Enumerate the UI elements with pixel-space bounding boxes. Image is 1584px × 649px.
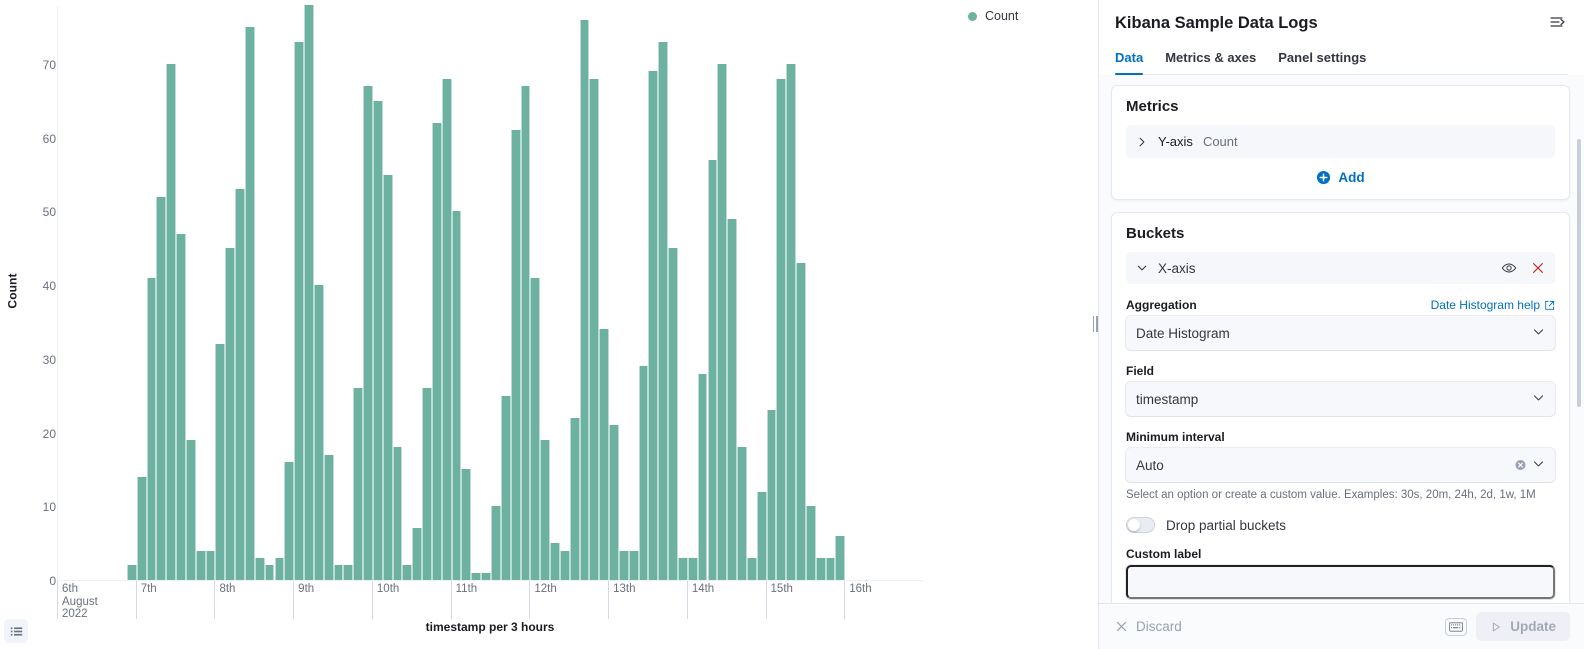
close-icon	[1531, 261, 1545, 275]
x-axis-tick-label: 8th	[219, 581, 235, 596]
panel-body: Metrics Y-axis Count Add	[1099, 75, 1584, 603]
bar[interactable]	[363, 86, 373, 580]
bar[interactable]	[619, 551, 629, 580]
x-axis-title: timestamp per 3 hours	[57, 620, 923, 634]
bar[interactable]	[304, 5, 314, 580]
aggregation-select[interactable]: Date Histogram	[1126, 316, 1555, 350]
bar[interactable]	[658, 42, 668, 580]
panel-scrollbar[interactable]	[1577, 139, 1581, 407]
app-root: Count Count 010203040506070 6thAugust202…	[0, 0, 1584, 649]
field-select[interactable]: timestamp	[1126, 382, 1555, 416]
bar[interactable]	[737, 447, 747, 580]
bar[interactable]	[678, 558, 688, 580]
external-link-icon	[1544, 300, 1555, 311]
y-axis-tick-label: 0	[24, 574, 56, 588]
tab-panel-settings[interactable]: Panel settings	[1278, 50, 1366, 74]
bar[interactable]	[166, 64, 176, 580]
tab-data[interactable]: Data	[1115, 50, 1143, 74]
minimum-interval-select[interactable]: Auto	[1126, 448, 1555, 482]
bar[interactable]	[717, 64, 727, 580]
bar[interactable]	[127, 565, 137, 580]
update-button[interactable]: Update	[1476, 612, 1570, 641]
metric-row-y-axis[interactable]: Y-axis Count	[1126, 125, 1555, 158]
x-axis-tick-label: 11th	[456, 581, 478, 596]
bar[interactable]	[629, 551, 639, 580]
bar[interactable]	[668, 248, 678, 580]
bar[interactable]	[255, 558, 265, 580]
x-axis-tick: 10th	[372, 581, 399, 619]
clear-interval-button[interactable]	[1514, 459, 1527, 472]
bar[interactable]	[137, 477, 147, 580]
bar[interactable]	[265, 565, 275, 580]
x-axis-tick-label: 7th	[141, 581, 157, 596]
bar[interactable]	[747, 558, 757, 580]
bar[interactable]	[373, 101, 383, 580]
y-axis-tick-label: 20	[24, 427, 56, 441]
bucket-row-toggle[interactable]: X-axis	[1136, 261, 1196, 276]
discard-button[interactable]: Discard	[1115, 619, 1182, 634]
legend-toggle-button[interactable]	[4, 619, 28, 643]
x-axis-tick: 16th	[844, 581, 871, 619]
bar[interactable]	[580, 20, 590, 580]
aggregation-label: Aggregation	[1126, 298, 1197, 312]
y-axis-ticks: 010203040506070	[24, 0, 56, 600]
x-axis-tick: 6thAugust2022	[57, 581, 98, 619]
bar[interactable]	[284, 462, 294, 580]
bar[interactable]	[334, 565, 344, 580]
minimum-interval-label: Minimum interval	[1126, 430, 1555, 444]
y-axis-tick-label: 30	[24, 353, 56, 367]
y-axis-tick-label: 50	[24, 205, 56, 219]
bar[interactable]	[383, 175, 393, 580]
chevron-down-icon	[1532, 457, 1545, 473]
bar[interactable]	[570, 418, 580, 580]
bar[interactable]	[215, 344, 225, 580]
resize-grip-icon	[1093, 316, 1095, 332]
bar[interactable]	[609, 425, 619, 580]
field-value: timestamp	[1136, 392, 1198, 407]
bucket-row-label: X-axis	[1158, 261, 1196, 276]
bar[interactable]	[294, 42, 304, 580]
chevron-down-icon	[1136, 262, 1148, 274]
bar[interactable]	[275, 558, 285, 580]
chart-legend[interactable]: Count	[968, 9, 1018, 23]
x-axis-tick-label: 6th	[62, 581, 98, 596]
bar[interactable]	[688, 558, 698, 580]
x-axis-tick: 7th	[136, 581, 157, 619]
y-axis-title: Count	[2, 0, 24, 581]
collapse-panel-icon	[1550, 14, 1566, 30]
x-axis-tick-sublabel: 2022	[62, 608, 98, 621]
bar[interactable]	[206, 551, 216, 580]
metrics-card: Metrics Y-axis Count Add	[1111, 85, 1570, 200]
bar[interactable]	[314, 285, 324, 580]
x-axis-tick: 14th	[687, 581, 714, 619]
bar[interactable]	[225, 248, 235, 580]
legend-item-count[interactable]: Count	[985, 9, 1018, 23]
x-axis-tick-label: 16th	[849, 581, 871, 596]
update-label: Update	[1510, 619, 1556, 634]
chart-region: Count Count 010203040506070 6thAugust202…	[0, 0, 1098, 649]
metric-row-value: Count	[1203, 134, 1238, 149]
x-axis-tick-label: 10th	[377, 581, 399, 596]
x-axis-tick: 9th	[293, 581, 314, 619]
bar[interactable]	[511, 130, 521, 580]
field-label: Field	[1126, 364, 1555, 378]
chevron-down-icon	[1532, 391, 1545, 407]
bar[interactable]	[147, 278, 157, 580]
bar[interactable]	[491, 506, 501, 580]
play-icon	[1490, 621, 1502, 633]
bar[interactable]	[727, 219, 737, 580]
bar[interactable]	[353, 388, 363, 580]
minimum-interval-hint: Select an option or create a custom valu…	[1126, 487, 1555, 503]
bar[interactable]	[461, 469, 471, 580]
buckets-title: Buckets	[1126, 225, 1555, 242]
bucket-row-x-axis[interactable]: X-axis	[1126, 252, 1555, 284]
chevron-down-icon	[1532, 325, 1545, 341]
drop-partial-buckets-row[interactable]: Drop partial buckets	[1126, 517, 1555, 533]
bar[interactable]	[540, 440, 550, 580]
bar[interactable]	[196, 551, 206, 580]
bar[interactable]	[835, 536, 845, 580]
bar[interactable]	[452, 211, 462, 580]
add-metric-label: Add	[1338, 170, 1364, 185]
toggle-visibility-button[interactable]	[1501, 260, 1517, 276]
bar[interactable]	[471, 573, 481, 580]
y-axis-tick-label: 70	[24, 58, 56, 72]
plot-area[interactable]	[57, 6, 923, 581]
bar[interactable]	[442, 79, 452, 580]
x-axis-tick: 8th	[214, 581, 235, 619]
clear-circle-icon	[1514, 459, 1527, 472]
bar[interactable]	[501, 396, 511, 580]
y-axis-title-label: Count	[6, 273, 20, 308]
x-axis-tick-label: 13th	[613, 581, 635, 596]
x-axis-tick-sublabel: August	[62, 596, 98, 609]
x-axis-tick: 15th	[766, 581, 793, 619]
bar[interactable]	[245, 27, 255, 580]
bar[interactable]	[521, 86, 531, 580]
chevron-right-icon	[1136, 136, 1148, 148]
panel-title: Kibana Sample Data Logs	[1115, 12, 1318, 34]
bar[interactable]	[176, 234, 186, 580]
x-axis-tick: 13th	[608, 581, 635, 619]
bar[interactable]	[343, 565, 353, 580]
x-axis-tick: 11th	[451, 581, 478, 619]
bar[interactable]	[816, 558, 826, 580]
bar[interactable]	[639, 366, 649, 580]
panel-footer: Discard	[1099, 603, 1584, 649]
date-histogram-help-link[interactable]: Date Histogram help	[1431, 298, 1555, 312]
metric-row-label: Y-axis	[1158, 134, 1193, 149]
x-axis-tick-label: 15th	[771, 581, 793, 596]
bar[interactable]	[432, 123, 442, 580]
drop-partial-buckets-toggle[interactable]	[1126, 517, 1155, 533]
bar[interactable]	[757, 492, 767, 580]
panel-tabs: Data Metrics & axes Panel settings	[1115, 50, 1568, 75]
keyboard-icon	[1449, 622, 1463, 632]
bar[interactable]	[708, 160, 718, 580]
metrics-title: Metrics	[1126, 98, 1555, 115]
list-icon	[10, 625, 23, 638]
discard-label: Discard	[1136, 619, 1182, 634]
panel-header: Kibana Sample Data Logs Data Metrics & a…	[1099, 0, 1584, 75]
bar[interactable]	[786, 64, 796, 580]
bar[interactable]	[698, 374, 708, 580]
buckets-card: Buckets X-axis	[1111, 212, 1570, 603]
panel-resize-handle[interactable]	[1090, 312, 1100, 336]
collapse-panel-button[interactable]	[1548, 12, 1568, 37]
bar[interactable]	[530, 278, 540, 580]
bar[interactable]	[589, 79, 599, 580]
bar[interactable]	[796, 263, 806, 580]
minimum-interval-value: Auto	[1136, 458, 1164, 473]
close-icon	[1115, 620, 1128, 633]
keyboard-shortcuts-button[interactable]	[1446, 619, 1466, 635]
bar[interactable]	[648, 71, 658, 580]
tab-metrics-axes[interactable]: Metrics & axes	[1165, 50, 1256, 74]
bar[interactable]	[806, 506, 816, 580]
y-axis-tick-label: 60	[24, 132, 56, 146]
plus-circle-icon	[1316, 170, 1331, 185]
bar[interactable]	[156, 197, 166, 580]
bar[interactable]	[402, 565, 412, 580]
y-axis-tick-label: 10	[24, 500, 56, 514]
editor-panel: Kibana Sample Data Logs Data Metrics & a…	[1098, 0, 1584, 649]
bar[interactable]	[599, 329, 609, 580]
bar[interactable]	[481, 573, 491, 580]
y-axis-tick-label: 40	[24, 279, 56, 293]
legend-color-dot	[968, 12, 977, 21]
x-axis-tick-label: 12th	[534, 581, 556, 596]
resize-grip-icon	[1096, 316, 1098, 332]
bar[interactable]	[776, 79, 786, 580]
bar[interactable]	[422, 388, 432, 580]
x-axis-tick-label: 9th	[298, 581, 314, 596]
remove-bucket-button[interactable]	[1531, 261, 1545, 275]
bar[interactable]	[550, 543, 560, 580]
custom-label-label: Custom label	[1126, 547, 1555, 561]
bar[interactable]	[186, 440, 196, 580]
add-metric-button[interactable]: Add	[1126, 170, 1555, 185]
bar[interactable]	[324, 455, 334, 580]
bar[interactable]	[235, 189, 245, 580]
bar-series-count[interactable]	[58, 6, 923, 580]
aggregation-value: Date Histogram	[1136, 326, 1230, 341]
custom-label-input[interactable]	[1126, 565, 1555, 599]
bar[interactable]	[412, 528, 422, 580]
bar[interactable]	[393, 447, 403, 580]
x-axis-tick: 12th	[529, 581, 556, 619]
bar[interactable]	[767, 410, 777, 580]
bar[interactable]	[826, 558, 836, 580]
bar[interactable]	[560, 551, 570, 580]
drop-partial-buckets-label: Drop partial buckets	[1166, 518, 1286, 533]
eye-icon	[1501, 260, 1517, 276]
x-axis-tick-label: 14th	[692, 581, 714, 596]
help-link-label: Date Histogram help	[1431, 298, 1540, 312]
toggle-knob	[1128, 519, 1140, 531]
